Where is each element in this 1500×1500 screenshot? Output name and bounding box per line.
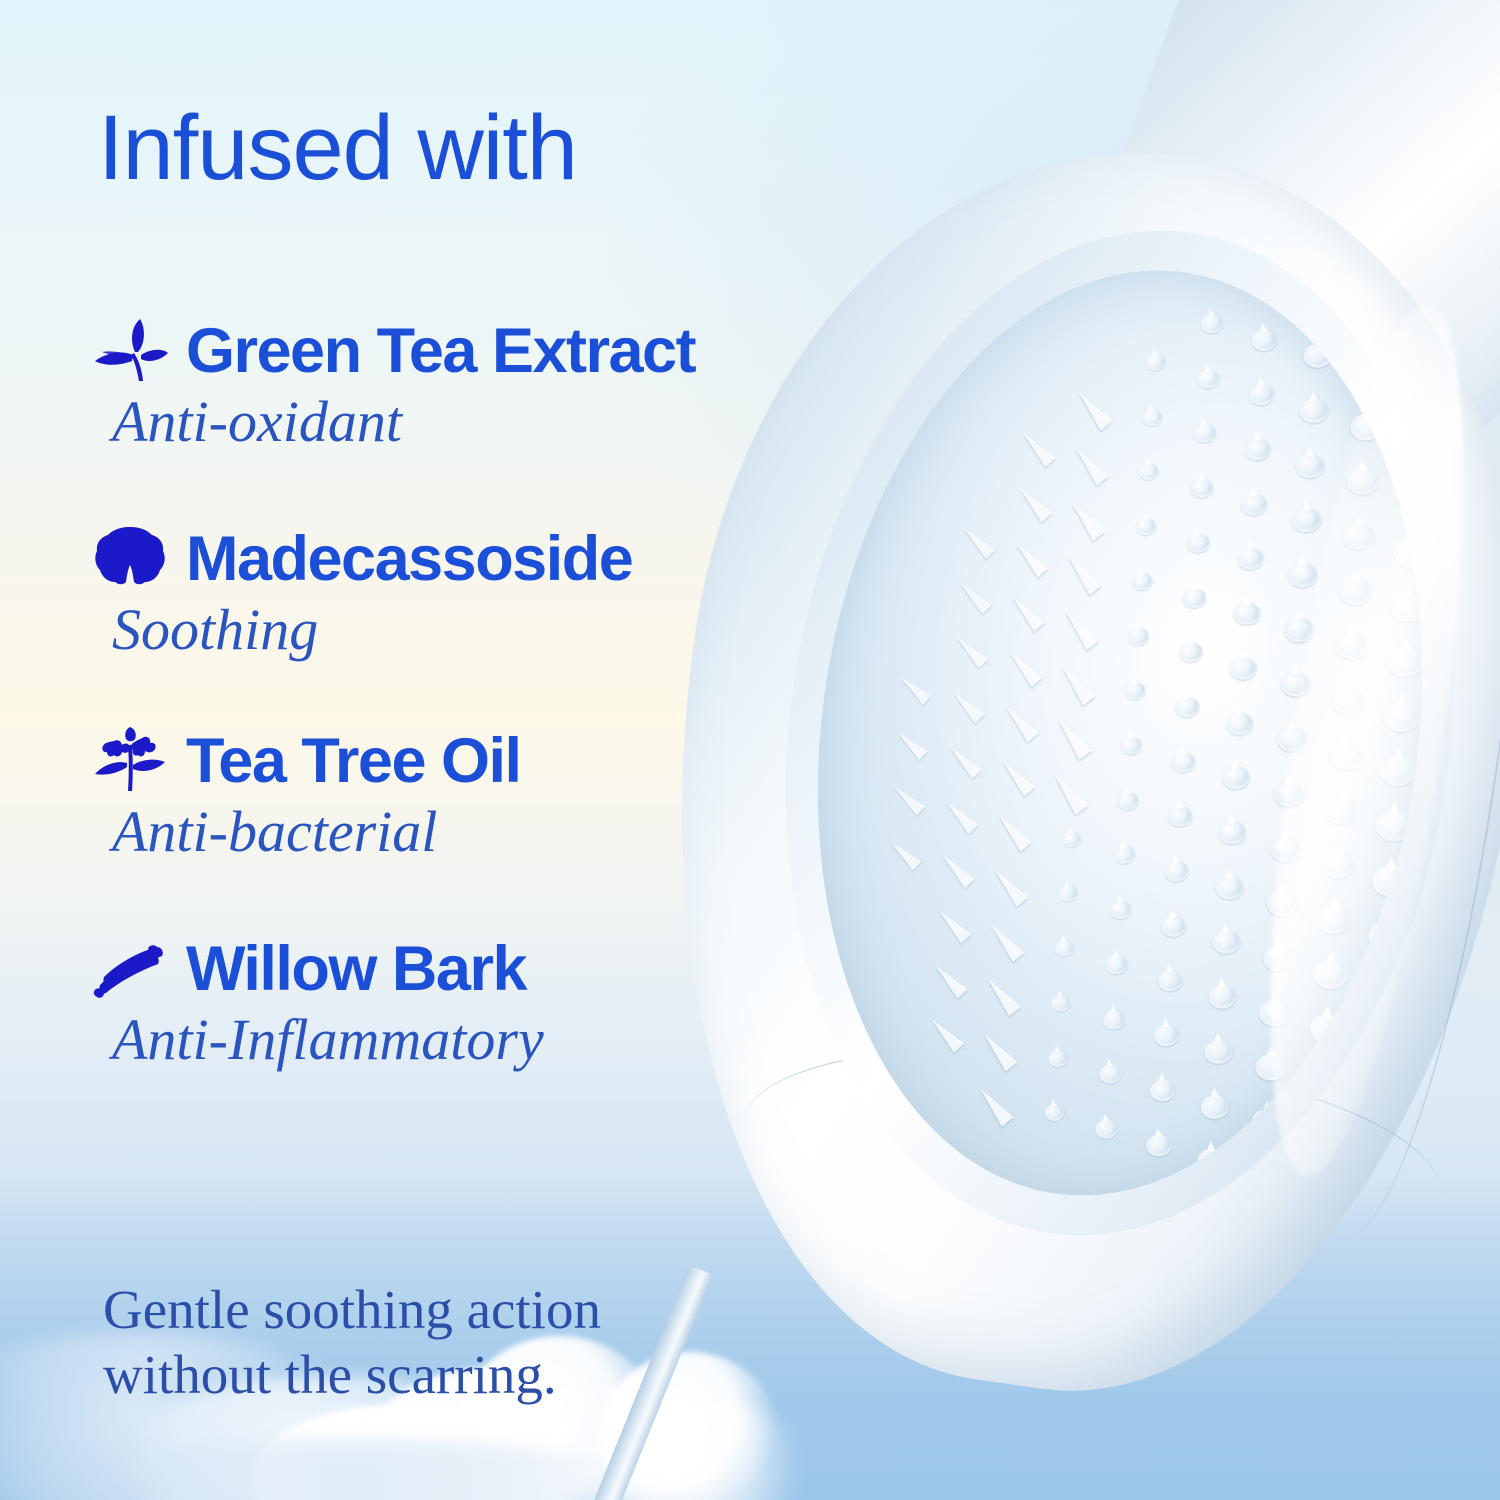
feature-item-green-tea-extract: Green Tea Extract Anti-oxidant (92, 312, 912, 453)
feature-title: Willow Bark (186, 938, 526, 1001)
feature-heading: Green Tea Extract (92, 312, 912, 390)
feature-item-willow-bark: Willow Bark Anti-Inflammatory (92, 930, 912, 1071)
feature-item-madecassoside: Madecassoside Soothing (92, 520, 912, 661)
feature-title: Madecassoside (186, 528, 632, 591)
feature-subtitle: Anti-bacterial (112, 802, 912, 863)
flowering-sprig-icon (92, 727, 168, 795)
feature-subtitle: Anti-oxidant (112, 392, 912, 453)
feature-subtitle: Anti-Inflammatory (112, 1010, 912, 1071)
footer-caption: Gentle soothing action without the scarr… (103, 1278, 601, 1408)
bark-sticks-icon (92, 935, 168, 1003)
feature-heading: Tea Tree Oil (92, 722, 912, 800)
page-title: Infused with (98, 96, 577, 201)
feature-title: Tea Tree Oil (186, 730, 521, 793)
leaf-sprig-icon (92, 317, 168, 385)
feature-heading: Willow Bark (92, 930, 912, 1008)
round-leaf-icon (92, 525, 168, 593)
feature-item-tea-tree-oil: Tea Tree Oil Anti-bacterial (92, 722, 912, 863)
feature-title: Green Tea Extract (186, 320, 695, 383)
feature-subtitle: Soothing (112, 600, 912, 661)
product-feature-graphic: Infused with Green Tea Extract Anti-oxid… (0, 0, 1500, 1500)
feature-heading: Madecassoside (92, 520, 912, 598)
